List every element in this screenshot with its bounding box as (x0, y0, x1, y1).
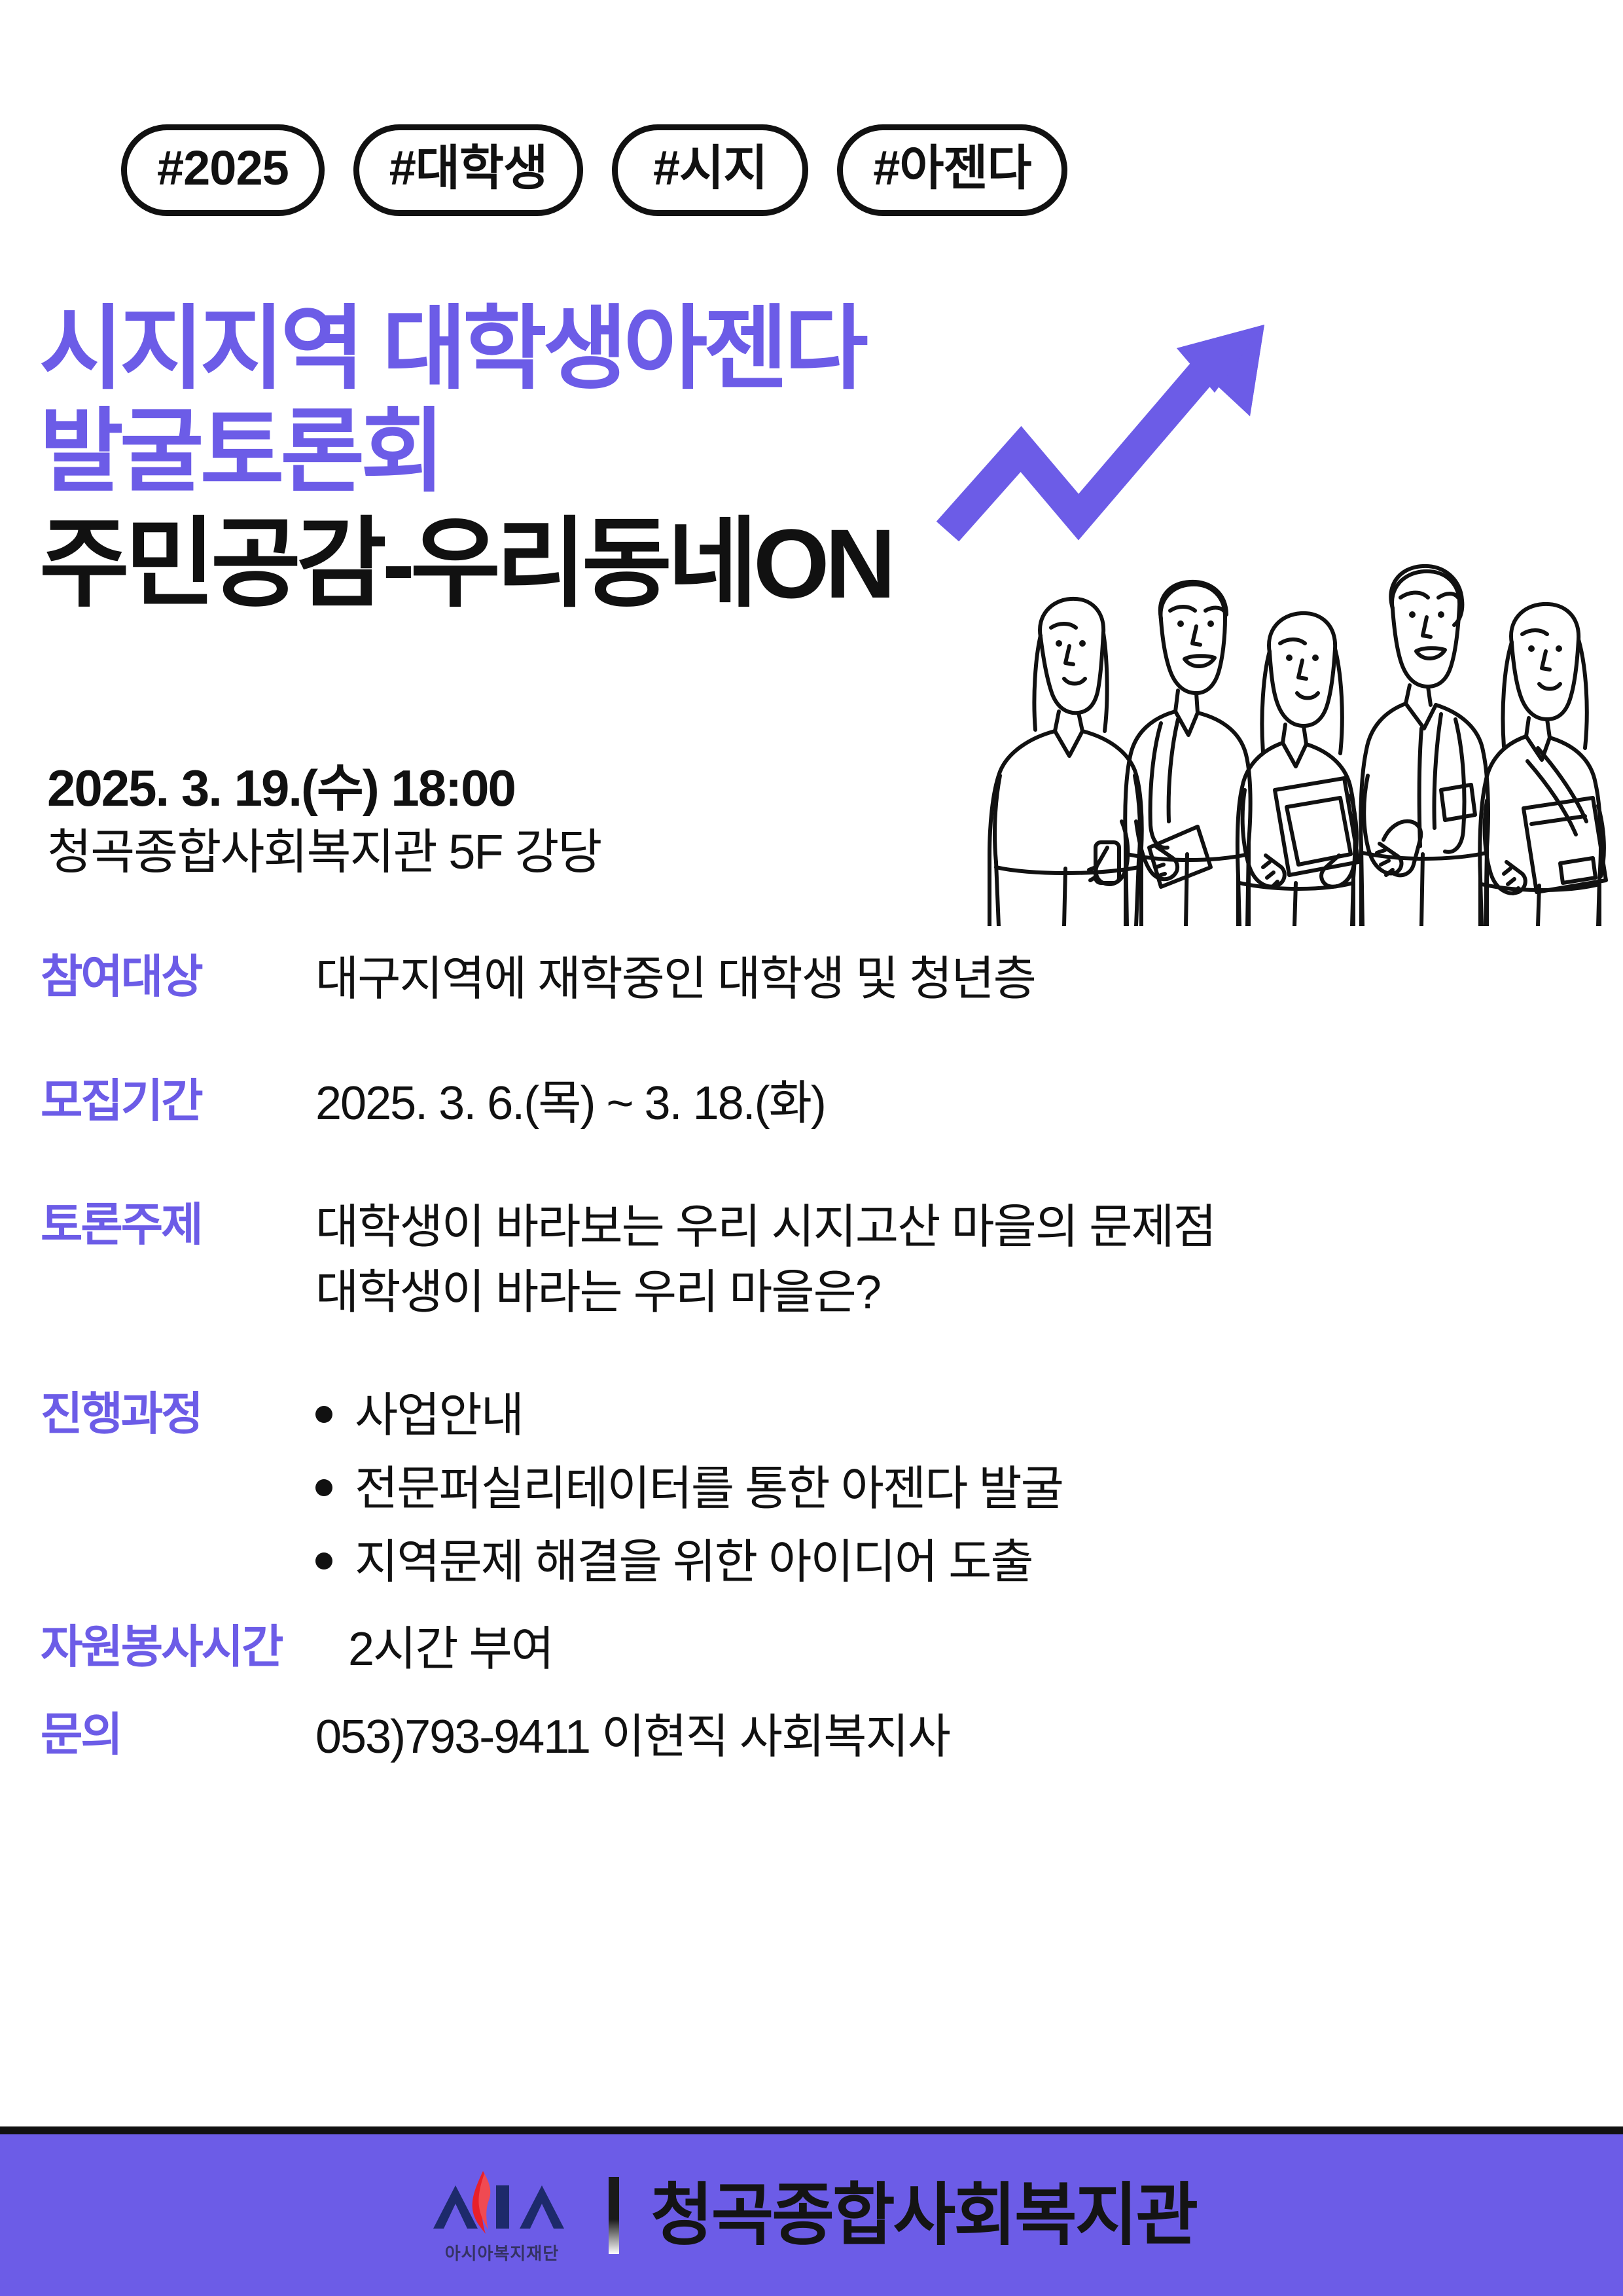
detail-row-process: 진행과정 사업안내 전문퍼실리테이터를 통한 아젠다 발굴 지역문제 해결을 위… (41, 1386, 1598, 1592)
detail-label-recruit-period: 모집기간 (41, 1073, 315, 1128)
detail-value-topic: 대학생이 바라보는 우리 시지고산 마을의 문제점 대학생이 바라는 우리 마을… (315, 1197, 1598, 1323)
asia-foundation-logo: 아시아복지재단 (427, 2166, 577, 2265)
event-when-where: 2025. 3. 19.(수) 18:00 청곡종합사회복지관 5F 강당 (47, 759, 601, 881)
process-item: 지역문제 해결을 위한 아이디어 도출 (315, 1533, 1598, 1592)
process-item: 전문퍼실리테이터를 통한 아젠다 발굴 (315, 1460, 1598, 1518)
process-item-label: 지역문제 해결을 위한 아이디어 도출 (355, 1533, 1033, 1592)
poster-headline: 시지지역 대학생아젠다 발굴토론회 주민공감-우리동네ON (39, 298, 891, 615)
detail-value-contact: 053)793-9411 이현직 사회복지사 (315, 1707, 1598, 1768)
detail-value-volunteer-hours: 2시간 부여 (348, 1619, 1598, 1681)
process-item-label: 사업안내 (355, 1386, 523, 1445)
students-group-illustration (967, 560, 1623, 926)
headline-line-1: 시지지역 대학생아젠다 (39, 298, 891, 401)
detail-label-contact: 문의 (41, 1707, 315, 1762)
topic-line-2: 대학생이 바라는 우리 마을은? (315, 1263, 1598, 1324)
event-datetime: 2025. 3. 19.(수) 18:00 (47, 759, 601, 818)
poster-footer: 아시아복지재단 청곡종합사회복지관 (0, 2134, 1623, 2296)
asia-foundation-subtitle: 아시아복지재단 (445, 2240, 559, 2265)
detail-label-topic: 토론주제 (41, 1197, 315, 1252)
detail-row-contact: 문의 053)793-9411 이현직 사회복지사 (41, 1707, 1598, 1768)
hashtag-pill-siji: #시지 (612, 124, 808, 216)
bullet-dot-icon (315, 1406, 332, 1423)
bullet-dot-icon (315, 1479, 332, 1496)
event-venue: 청곡종합사회복지관 5F 강당 (47, 823, 601, 882)
headline-line-3: 주민공감-우리동네ON (39, 512, 891, 616)
bullet-dot-icon (315, 1552, 332, 1570)
event-details: 참여대상 대구지역에 재학중인 대학생 및 청년층 모집기간 2025. 3. … (41, 949, 1598, 1831)
detail-row-audience: 참여대상 대구지역에 재학중인 대학생 및 청년층 (41, 949, 1598, 1011)
hashtag-pill-agenda: #아젠다 (837, 124, 1067, 216)
hashtag-row: #2025 #대학생 #시지 #아젠다 (121, 124, 1067, 216)
detail-value-process: 사업안내 전문퍼실리테이터를 통한 아젠다 발굴 지역문제 해결을 위한 아이디… (315, 1386, 1598, 1592)
headline-line-2: 발굴토론회 (39, 401, 891, 503)
detail-label-process: 진행과정 (41, 1386, 315, 1441)
footer-brand-lockup: 아시아복지재단 청곡종합사회복지관 (427, 2166, 1196, 2265)
detail-label-volunteer-hours: 자원봉사시간 (41, 1619, 348, 1674)
footer-vertical-divider-icon (609, 2177, 619, 2254)
event-poster: #2025 #대학생 #시지 #아젠다 시지지역 대학생아젠다 발굴토론회 주민… (0, 0, 1623, 2296)
footer-divider-rule (0, 2126, 1623, 2134)
asia-logo-icon (427, 2166, 577, 2238)
detail-row-topic: 토론주제 대학생이 바라보는 우리 시지고산 마을의 문제점 대학생이 바라는 … (41, 1197, 1598, 1323)
process-bullet-list: 사업안내 전문퍼실리테이터를 통한 아젠다 발굴 지역문제 해결을 위한 아이디… (315, 1386, 1598, 1592)
growth-arrow-icon (910, 301, 1276, 563)
detail-value-audience: 대구지역에 재학중인 대학생 및 청년층 (315, 949, 1598, 1011)
detail-label-audience: 참여대상 (41, 949, 315, 1004)
topic-line-1: 대학생이 바라보는 우리 시지고산 마을의 문제점 (315, 1197, 1598, 1259)
detail-row-recruit-period: 모집기간 2025. 3. 6.(목) ~ 3. 18.(화) (41, 1073, 1598, 1135)
footer-organization-name: 청곡종합사회복지관 (651, 2181, 1196, 2250)
process-item: 사업안내 (315, 1386, 1598, 1445)
hashtag-pill-university-student: #대학생 (353, 124, 583, 216)
hashtag-pill-year: #2025 (121, 124, 325, 216)
detail-row-volunteer-hours: 자원봉사시간 2시간 부여 (41, 1619, 1598, 1681)
process-item-label: 전문퍼실리테이터를 통한 아젠다 발굴 (355, 1460, 1063, 1518)
detail-value-recruit-period: 2025. 3. 6.(목) ~ 3. 18.(화) (315, 1073, 1598, 1135)
